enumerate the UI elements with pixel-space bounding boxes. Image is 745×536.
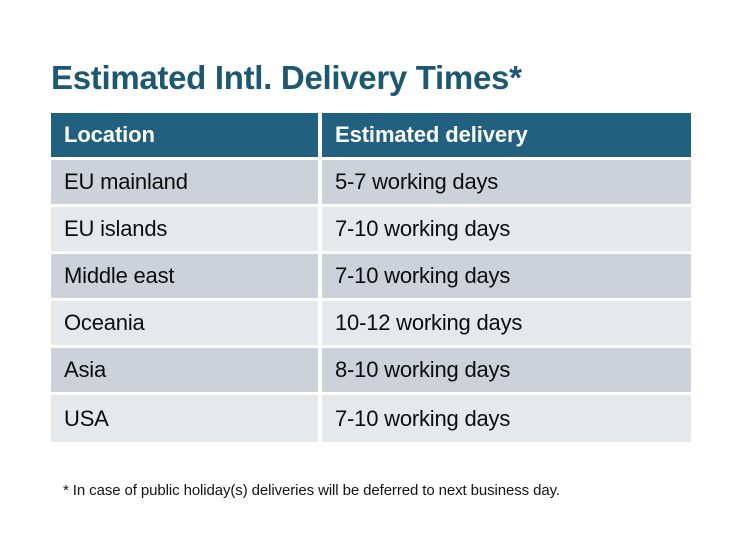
footnote: * In case of public holiday(s) deliverie… xyxy=(63,481,560,501)
table-body: EU mainland5-7 working daysEU islands7-1… xyxy=(51,160,691,442)
table-row: Asia8-10 working days xyxy=(51,348,691,395)
table-row: Middle east7-10 working days xyxy=(51,254,691,301)
cell-estimated-delivery: 5-7 working days xyxy=(322,160,691,207)
table-row: EU islands7-10 working days xyxy=(51,207,691,254)
cell-estimated-delivery: 8-10 working days xyxy=(322,348,691,395)
cell-location: USA xyxy=(51,395,322,442)
column-header-location: Location xyxy=(51,113,322,160)
page-title: Estimated Intl. Delivery Times* xyxy=(51,58,522,98)
cell-estimated-delivery: 7-10 working days xyxy=(322,254,691,301)
cell-estimated-delivery: 7-10 working days xyxy=(322,395,691,442)
table-header: Location Estimated delivery xyxy=(51,113,691,160)
cell-location: Asia xyxy=(51,348,322,395)
cell-location: Oceania xyxy=(51,301,322,348)
cell-location: EU mainland xyxy=(51,160,322,207)
cell-location: Middle east xyxy=(51,254,322,301)
cell-location: EU islands xyxy=(51,207,322,254)
table-row: Oceania10-12 working days xyxy=(51,301,691,348)
table-row: EU mainland5-7 working days xyxy=(51,160,691,207)
cell-estimated-delivery: 10-12 working days xyxy=(322,301,691,348)
delivery-times-table: Location Estimated delivery EU mainland5… xyxy=(51,113,691,442)
table-header-row: Location Estimated delivery xyxy=(51,113,691,160)
table-row: USA7-10 working days xyxy=(51,395,691,442)
cell-estimated-delivery: 7-10 working days xyxy=(322,207,691,254)
delivery-times-page: Estimated Intl. Delivery Times* Location… xyxy=(0,0,745,536)
column-header-estimated-delivery: Estimated delivery xyxy=(322,113,691,160)
